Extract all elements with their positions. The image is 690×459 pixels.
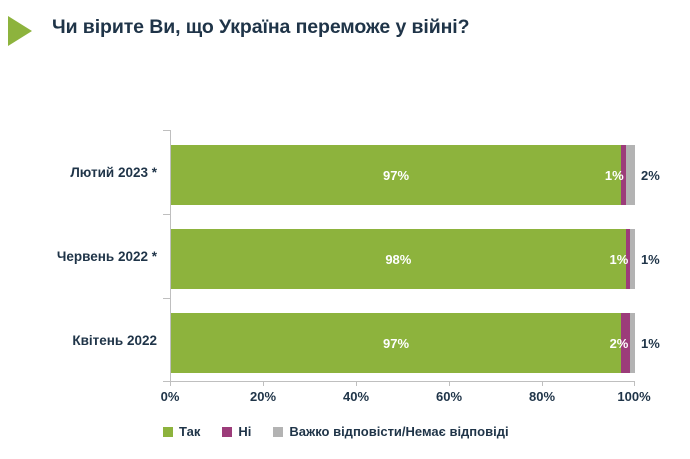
legend-swatch-icon <box>273 427 283 437</box>
x-axis-tick <box>263 381 264 386</box>
x-axis-label-4: 80% <box>512 389 572 404</box>
bar-row[interactable]: 98% 1% 1% <box>171 229 635 289</box>
bar-row[interactable]: 97% 2% 1% <box>171 313 635 373</box>
legend-label: Ні <box>238 424 251 439</box>
bar-segment-hard-to-answer[interactable]: 1% <box>630 313 635 373</box>
x-axis-tick <box>449 381 450 386</box>
bar-segment-no[interactable]: 2% <box>621 313 630 373</box>
legend-swatch-icon <box>222 427 232 437</box>
bar-value-label: 2% <box>641 168 660 183</box>
x-axis-line <box>170 381 635 382</box>
category-label-2: Квітень 2022 <box>0 333 157 348</box>
bar-row[interactable]: 97% 1% 2% <box>171 145 635 205</box>
x-axis-label-0: 0% <box>140 389 200 404</box>
legend-label: Важко відповісти/Немає відповіді <box>289 424 508 439</box>
legend-swatch-icon <box>163 427 173 437</box>
y-axis-tick <box>163 381 170 382</box>
y-axis-tick <box>163 130 170 131</box>
bar-segment-yes[interactable]: 97% <box>171 145 621 205</box>
x-axis-tick <box>170 381 171 386</box>
x-axis-label-5: 100% <box>604 389 664 404</box>
chart-legend: Так Ні Важко відповісти/Немає відповіді <box>163 424 531 439</box>
y-axis-tick <box>163 298 170 299</box>
bar-segment-hard-to-answer[interactable]: 1% <box>630 229 635 289</box>
bar-segment-yes[interactable]: 97% <box>171 313 621 373</box>
category-label-1: Червень 2022 * <box>0 249 157 264</box>
bar-value-label: 98% <box>385 252 411 267</box>
bar-segment-yes[interactable]: 98% <box>171 229 626 289</box>
bar-value-label: 1% <box>641 252 660 267</box>
category-label-0: Лютий 2023 * <box>0 165 157 180</box>
legend-item-hard-to-answer[interactable]: Важко відповісти/Немає відповіді <box>273 424 508 439</box>
chart-plot-area: Лютий 2023 * Червень 2022 * Квітень 2022… <box>0 0 690 459</box>
bar-value-label: 97% <box>383 336 409 351</box>
legend-item-no[interactable]: Ні <box>222 424 251 439</box>
x-axis-label-2: 40% <box>326 389 386 404</box>
x-axis-tick <box>634 381 635 386</box>
legend-item-yes[interactable]: Так <box>163 424 200 439</box>
y-axis-tick <box>163 214 170 215</box>
x-axis-label-3: 60% <box>419 389 479 404</box>
bar-segment-hard-to-answer[interactable]: 2% <box>626 145 635 205</box>
bar-value-label: 97% <box>383 168 409 183</box>
x-axis-tick <box>356 381 357 386</box>
x-axis-label-1: 20% <box>233 389 293 404</box>
x-axis-tick <box>542 381 543 386</box>
legend-label: Так <box>179 424 200 439</box>
bar-value-label: 1% <box>641 336 660 351</box>
